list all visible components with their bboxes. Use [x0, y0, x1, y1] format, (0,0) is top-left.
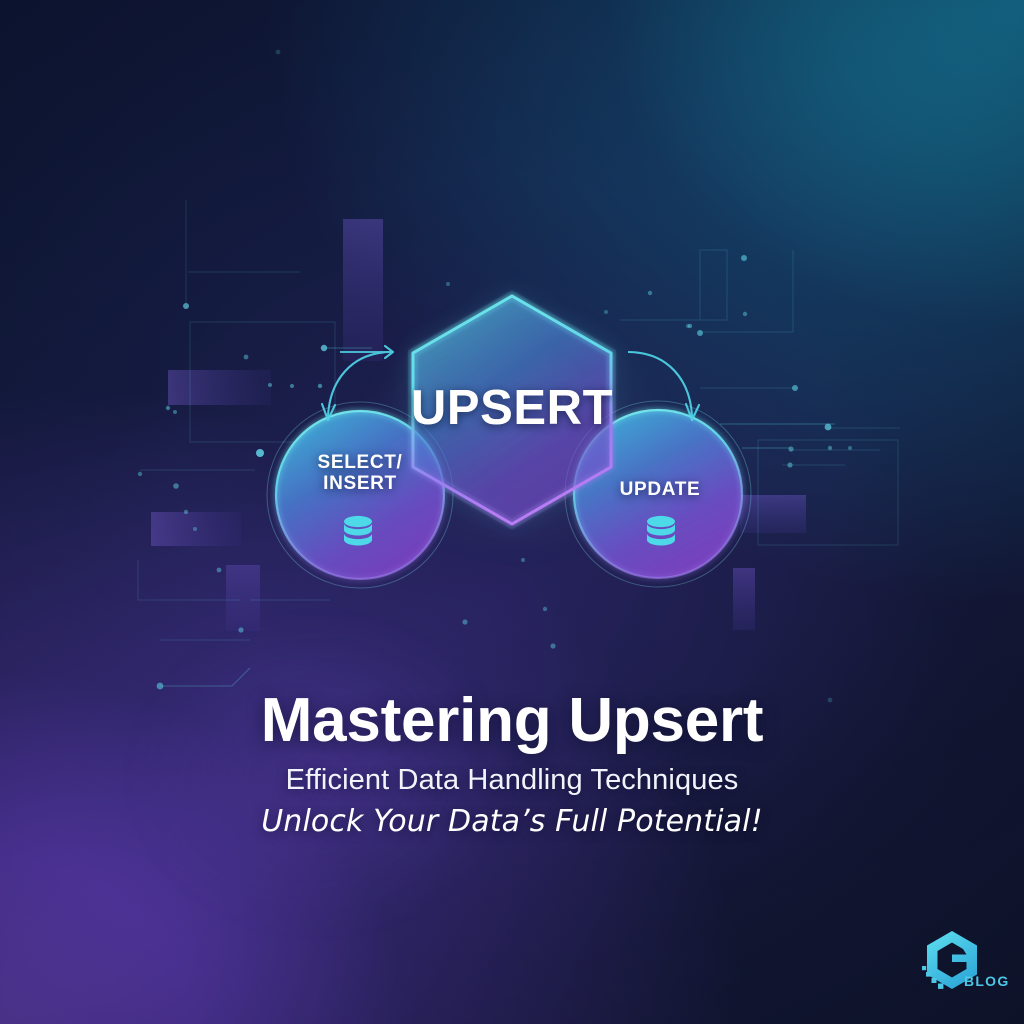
update-node-label: UPDATE: [576, 479, 744, 500]
brand-logo: BLOG: [916, 925, 1020, 1005]
headline-block: Mastering Upsert Efficient Data Handling…: [0, 690, 1024, 839]
select-insert-line-1: SELECT/: [276, 452, 444, 473]
database-icon: [336, 512, 380, 556]
select-insert-node-label: SELECT/ INSERT: [276, 452, 444, 495]
poster-canvas: UPSERT SELECT/ INSERT UPDATE Mastering U…: [0, 0, 1024, 1024]
page-title: Mastering Upsert: [0, 690, 1024, 752]
upsert-diagram: UPSERT SELECT/ INSERT UPDATE: [0, 0, 1024, 1024]
database-icon: [639, 512, 683, 556]
page-subtitle: Efficient Data Handling Techniques: [0, 764, 1024, 797]
upsert-node-label: UPSERT: [362, 381, 662, 436]
select-insert-line-2: INSERT: [276, 473, 444, 494]
brand-logo-text: BLOG: [964, 973, 1009, 989]
page-tagline: Unlock Your Data’s Full Potential!: [0, 804, 1024, 839]
diagram-shapes: [0, 0, 1024, 1024]
